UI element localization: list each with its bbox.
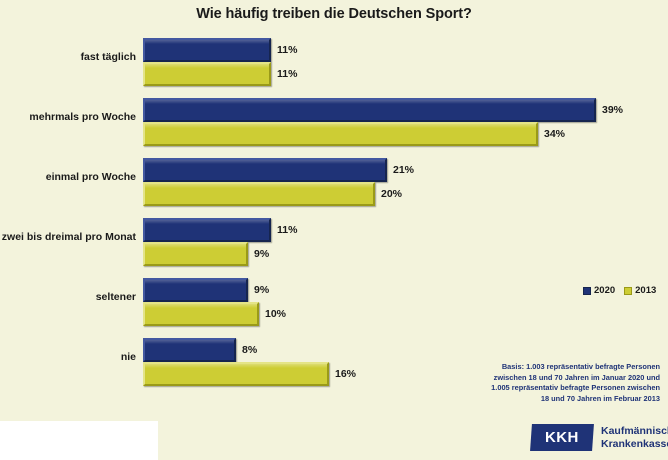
bar-rect xyxy=(143,218,271,242)
bar-value-label: 39% xyxy=(602,104,623,116)
bar-2013[interactable]: 9% xyxy=(143,242,248,266)
bar-2020[interactable]: 8% xyxy=(143,338,236,362)
legend-item-2013[interactable]: 2013 xyxy=(624,285,656,296)
bar-2013[interactable]: 11% xyxy=(143,62,271,86)
bar-value-label: 9% xyxy=(254,248,269,260)
bar-2020[interactable]: 21% xyxy=(143,158,387,182)
footnote-line-4: 18 und 70 Jahren im Februar 2013 xyxy=(466,394,660,405)
bar-rect xyxy=(143,362,329,386)
kkh-logo-name-line-2: Krankenkasse xyxy=(601,438,668,451)
bar-rect xyxy=(143,338,236,362)
bar-rect xyxy=(143,182,375,206)
bar-2013[interactable]: 16% xyxy=(143,362,329,386)
bar-group: einmal pro Woche21%20% xyxy=(0,154,668,208)
bar-rect xyxy=(143,122,538,146)
kkh-logo-name-line-1: Kaufmännische xyxy=(601,425,668,438)
bar-group: fast täglich11%11% xyxy=(0,34,668,88)
legend-swatch-icon-2013 xyxy=(624,287,632,295)
bar-2020[interactable]: 11% xyxy=(143,218,271,242)
bar-group: mehrmals pro Woche39%34% xyxy=(0,94,668,148)
bar-value-label: 11% xyxy=(277,68,297,80)
bar-rect xyxy=(143,38,271,62)
legend: 2020 2013 xyxy=(583,285,656,296)
kkh-logo-name: Kaufmännische Krankenkasse xyxy=(601,425,668,451)
category-label: mehrmals pro Woche xyxy=(0,111,136,123)
kkh-logo-mark: KKH xyxy=(530,424,594,451)
category-label: fast täglich xyxy=(0,51,136,63)
legend-item-2020[interactable]: 2020 xyxy=(583,285,615,296)
category-label: nie xyxy=(0,351,136,363)
legend-label-2020: 2020 xyxy=(594,285,615,296)
bar-rect xyxy=(143,158,387,182)
bar-2013[interactable]: 20% xyxy=(143,182,375,206)
footnote: Basis: 1.003 repräsentativ befragte Pers… xyxy=(466,362,660,404)
footnote-line-3: 1.005 repräsentativ befragte Personen zw… xyxy=(466,383,660,394)
bar-value-label: 16% xyxy=(335,368,356,380)
bar-2020[interactable]: 39% xyxy=(143,98,596,122)
bar-2020[interactable]: 9% xyxy=(143,278,248,302)
chart-screenshot: Wie häufig treiben die Deutschen Sport? … xyxy=(0,0,668,460)
kkh-logo-mark-text: KKH xyxy=(545,429,579,446)
category-label: zwei bis dreimal pro Monat xyxy=(0,231,136,243)
category-label: seltener xyxy=(0,291,136,303)
bar-rect xyxy=(143,98,596,122)
bar-group: seltener9%10% xyxy=(0,274,668,328)
bar-rect xyxy=(143,302,259,326)
bar-value-label: 8% xyxy=(242,344,257,356)
bar-value-label: 34% xyxy=(544,128,565,140)
bar-2013[interactable]: 10% xyxy=(143,302,259,326)
legend-swatch-icon-2020 xyxy=(583,287,591,295)
bar-value-label: 20% xyxy=(381,188,402,200)
legend-label-2013: 2013 xyxy=(635,285,656,296)
kkh-logo: KKH Kaufmännische Krankenkasse xyxy=(531,424,668,451)
bar-rect xyxy=(143,242,248,266)
bar-2013[interactable]: 34% xyxy=(143,122,538,146)
bar-rect xyxy=(143,62,271,86)
bar-rect xyxy=(143,278,248,302)
footnote-line-2: zwischen 18 und 70 Jahren im Januar 2020… xyxy=(466,373,660,384)
bar-value-label: 21% xyxy=(393,164,414,176)
bar-value-label: 9% xyxy=(254,284,269,296)
page-title: Wie häufig treiben die Deutschen Sport? xyxy=(0,6,668,22)
bar-2020[interactable]: 11% xyxy=(143,38,271,62)
bar-value-label: 11% xyxy=(277,44,297,56)
footnote-line-1: Basis: 1.003 repräsentativ befragte Pers… xyxy=(466,362,660,373)
bar-value-label: 11% xyxy=(277,224,297,236)
category-label: einmal pro Woche xyxy=(0,171,136,183)
plot-area: fast täglich11%11%mehrmals pro Woche39%3… xyxy=(0,28,668,408)
bar-group: zwei bis dreimal pro Monat11%9% xyxy=(0,214,668,268)
bar-value-label: 10% xyxy=(265,308,286,320)
